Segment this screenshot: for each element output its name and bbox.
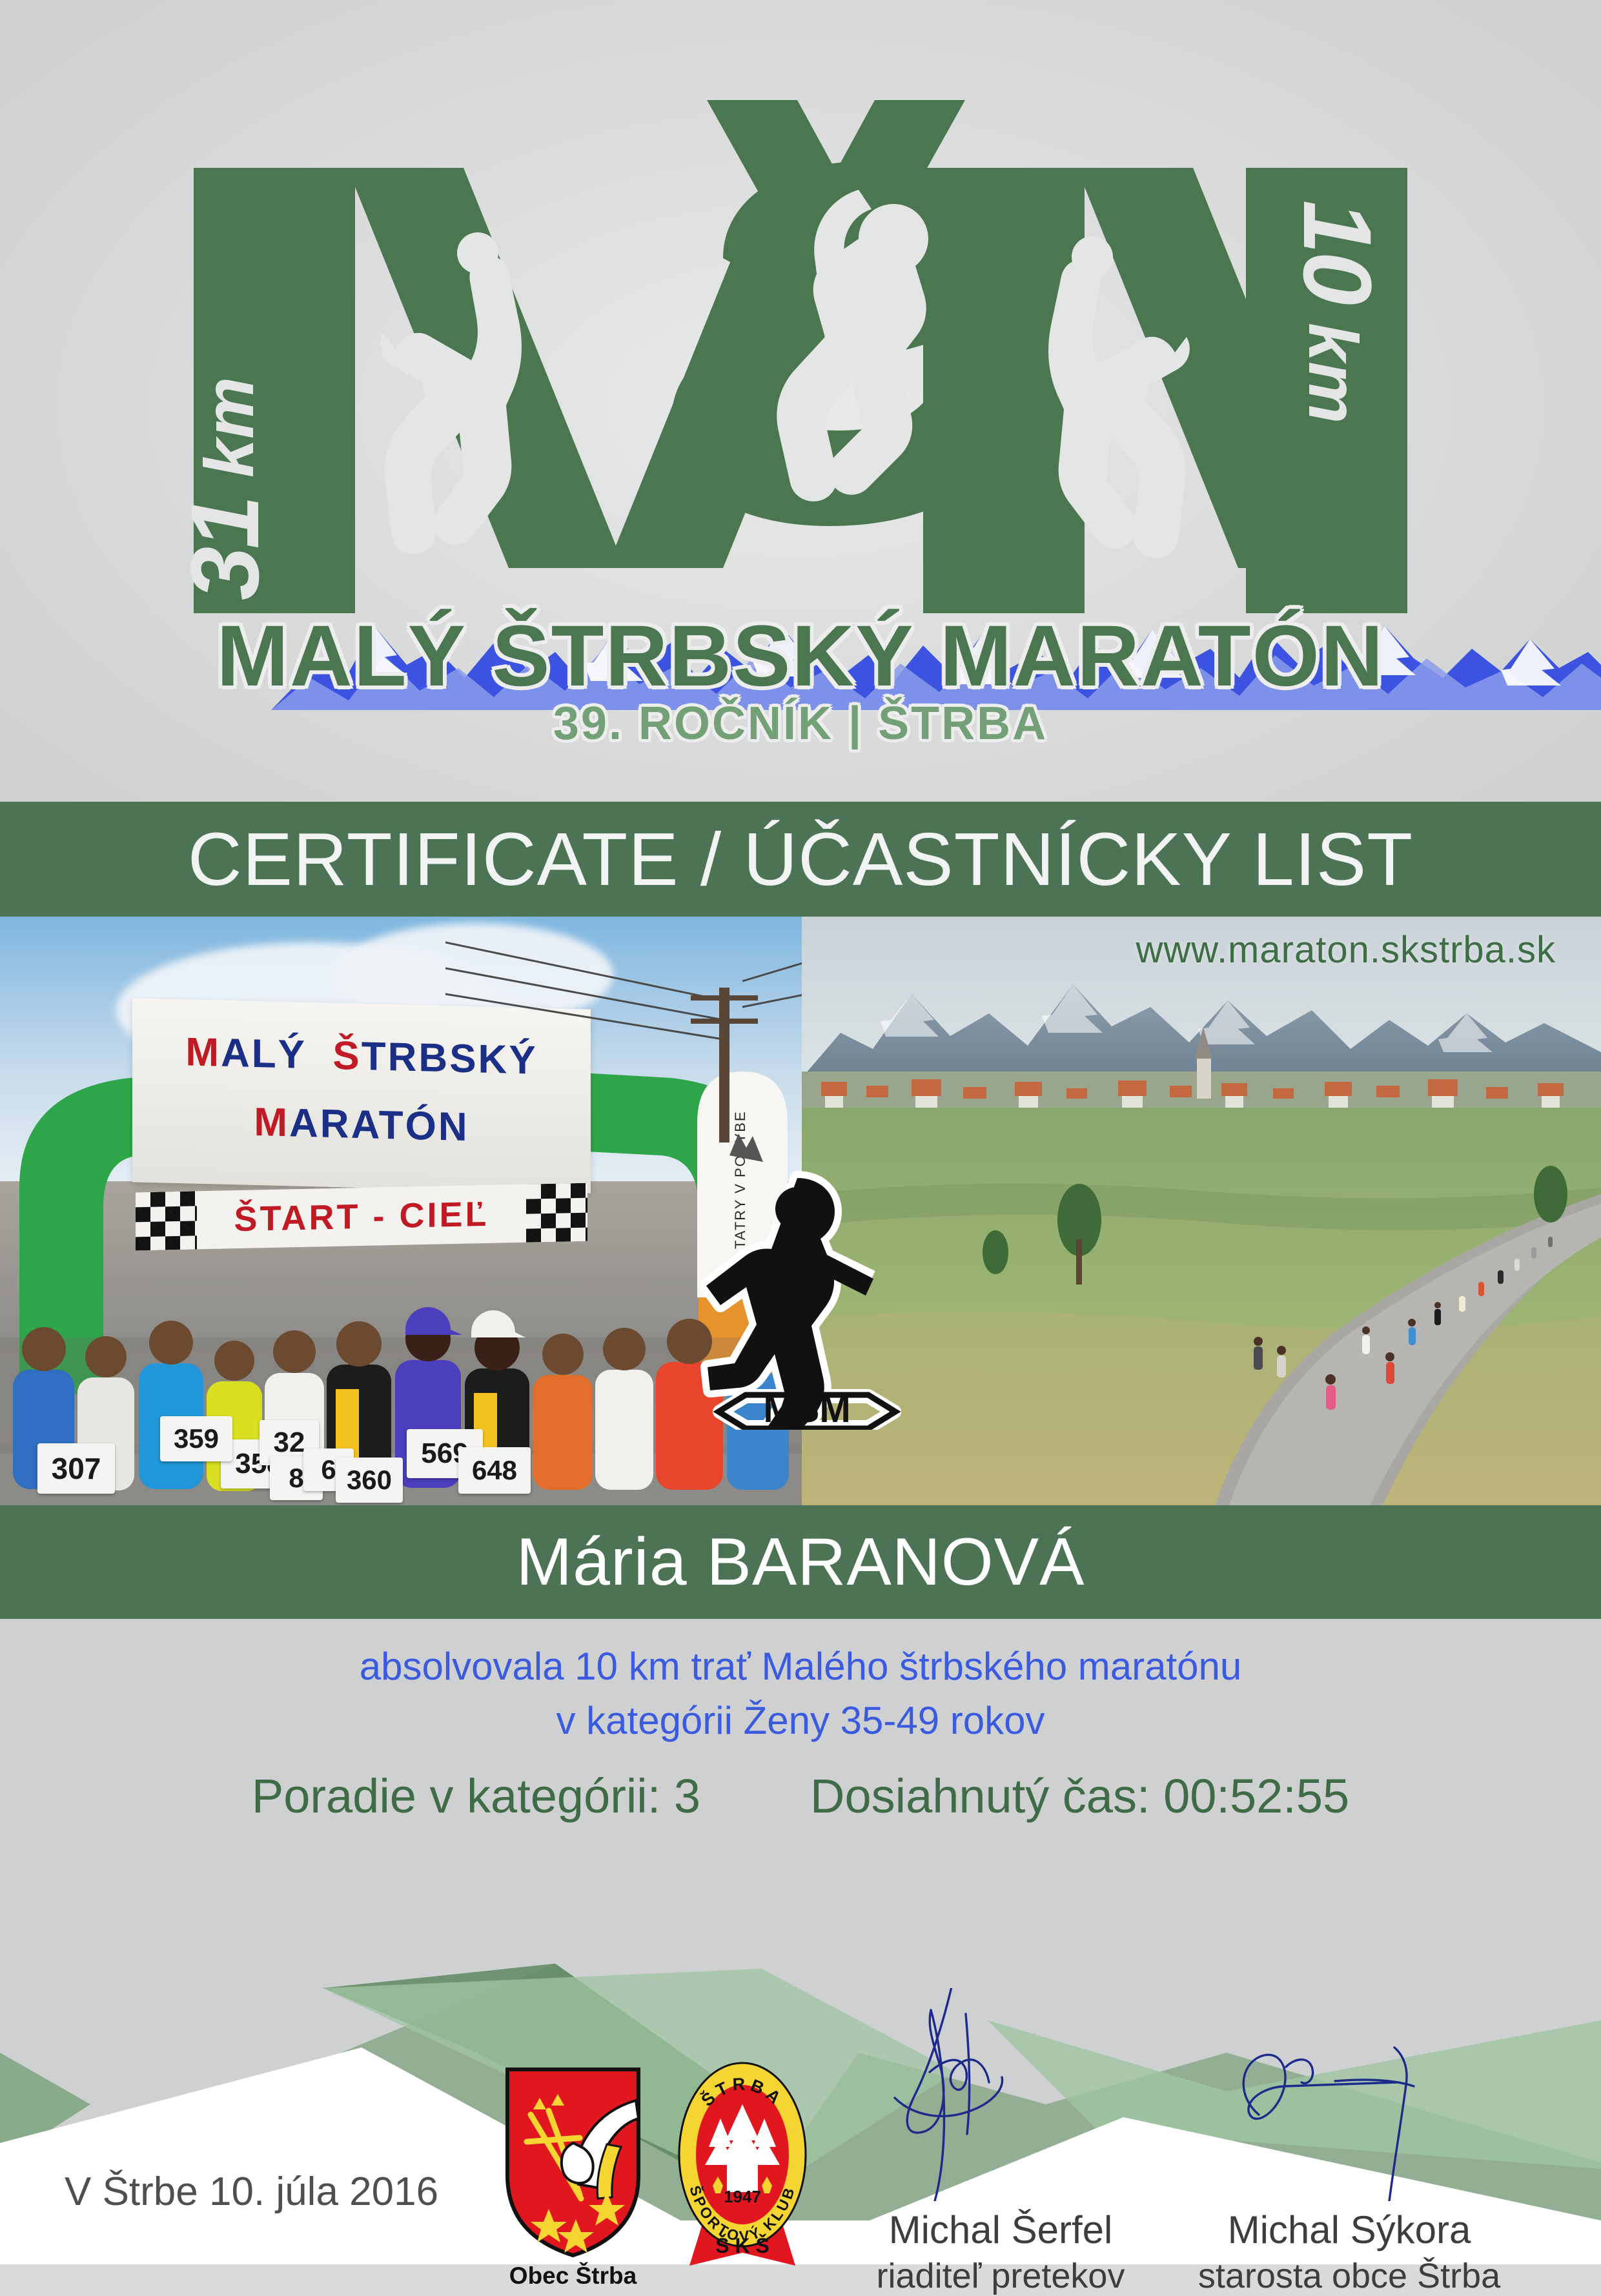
participant-name-band: Mária BARANOVÁ xyxy=(0,1505,1601,1619)
results-row: Poradie v kategórii: 3 Dosiahnutý čas: 0… xyxy=(0,1769,1601,1824)
arch-line2-rest: ARATÓN xyxy=(289,1101,469,1150)
start-line-photo: MALÝ ŠTRBSKÝ MARATÓN ŠTART - CIEĽ TATRY … xyxy=(0,917,802,1505)
certificate-title-band: CERTIFICATE / ÚČASTNÍCKY LIST xyxy=(0,802,1601,917)
club-year: 1947 xyxy=(724,2187,761,2206)
certificate-page: 31 km 10 km MALÝ ŠTRBSKÝ MARATÓN 39. ROČ… xyxy=(0,0,1601,2264)
start-finish-banner: ŠTART - CIEĽ xyxy=(136,1183,587,1251)
svg-text:km: km xyxy=(190,377,268,478)
checker-pattern xyxy=(526,1183,587,1243)
footer: V Štrbe 10. júla 2016 Obec Štrba xyxy=(0,1975,1601,2264)
svg-text:31: 31 xyxy=(170,498,279,600)
date-place: V Štrbe 10. júla 2016 xyxy=(65,2169,438,2215)
municipality-crest-icon xyxy=(504,2066,642,2259)
utility-pole-icon xyxy=(445,923,802,1143)
arch-line1-rest: ALÝ xyxy=(221,1031,307,1077)
bib-number: 307 xyxy=(37,1443,115,1494)
event-title: MALÝ ŠTRBSKÝ MARATÓN xyxy=(0,607,1601,706)
arch-line2-red-initial: M xyxy=(254,1100,289,1145)
finish-time: Dosiahnutý čas: 00:52:55 xyxy=(810,1769,1349,1824)
start-finish-text: ŠTART - CIEĽ xyxy=(234,1194,489,1239)
achievement-line-2: v kategórii Ženy 35-49 rokov xyxy=(0,1694,1601,1748)
bib-number: 648 xyxy=(458,1447,531,1494)
signature-mark-icon xyxy=(833,1988,1168,2201)
svg-text:10: 10 xyxy=(1283,200,1392,304)
landscape-graphic xyxy=(802,917,1601,1505)
sports-club-logo-icon: 1947 ŠTRBA ŠPORTOVÝ KLUB Š K Š xyxy=(665,2059,820,2266)
achievement-text: absolvovala 10 km trať Malého štrbského … xyxy=(0,1640,1601,1748)
header-logo-block: 31 km 10 km MALÝ ŠTRBSKÝ MARATÓN 39. ROČ… xyxy=(0,0,1601,800)
checker-pattern xyxy=(136,1191,197,1250)
arch-line1-red-initial: M xyxy=(185,1030,221,1075)
photo-strip: MALÝ ŠTRBSKÝ MARATÓN ŠTART - CIEĽ TATRY … xyxy=(0,917,1601,1505)
participant-name: Mária BARANOVÁ xyxy=(516,1524,1085,1601)
bib-number: 360 xyxy=(336,1458,403,1503)
signature-role: riaditeľ pretekov xyxy=(833,2256,1168,2296)
certificate-title: CERTIFICATE / ÚČASTNÍCKY LIST xyxy=(188,816,1413,902)
signature-name: Michal Sýkora xyxy=(1181,2208,1517,2252)
landscape-photo: www.maraton.skstrba.sk xyxy=(802,917,1601,1505)
bib-number: 359 xyxy=(160,1416,232,1461)
signature-name: Michal Šerfel xyxy=(833,2208,1168,2252)
msm-logo: 31 km 10 km xyxy=(155,45,1446,691)
municipality-label: Obec Štrba xyxy=(491,2262,655,2290)
msm-runner-emblem-icon: MŠM xyxy=(700,1159,913,1430)
emblem-text: MŠM xyxy=(763,1388,850,1430)
event-subtitle: 39. ROČNÍK | ŠTRBA xyxy=(0,697,1601,750)
website-url: www.maraton.skstrba.sk xyxy=(1136,928,1556,971)
category-rank: Poradie v kategórii: 3 xyxy=(252,1769,700,1824)
achievement-line-1: absolvovala 10 km trať Malého štrbského … xyxy=(0,1640,1601,1694)
svg-text:km: km xyxy=(1294,323,1372,423)
arch-line1b-red-initial: Š xyxy=(332,1033,361,1079)
signature-role: starosta obce Štrba xyxy=(1181,2256,1517,2296)
club-initials: Š K Š xyxy=(715,2234,770,2257)
signature-mark-icon xyxy=(1181,1988,1517,2201)
